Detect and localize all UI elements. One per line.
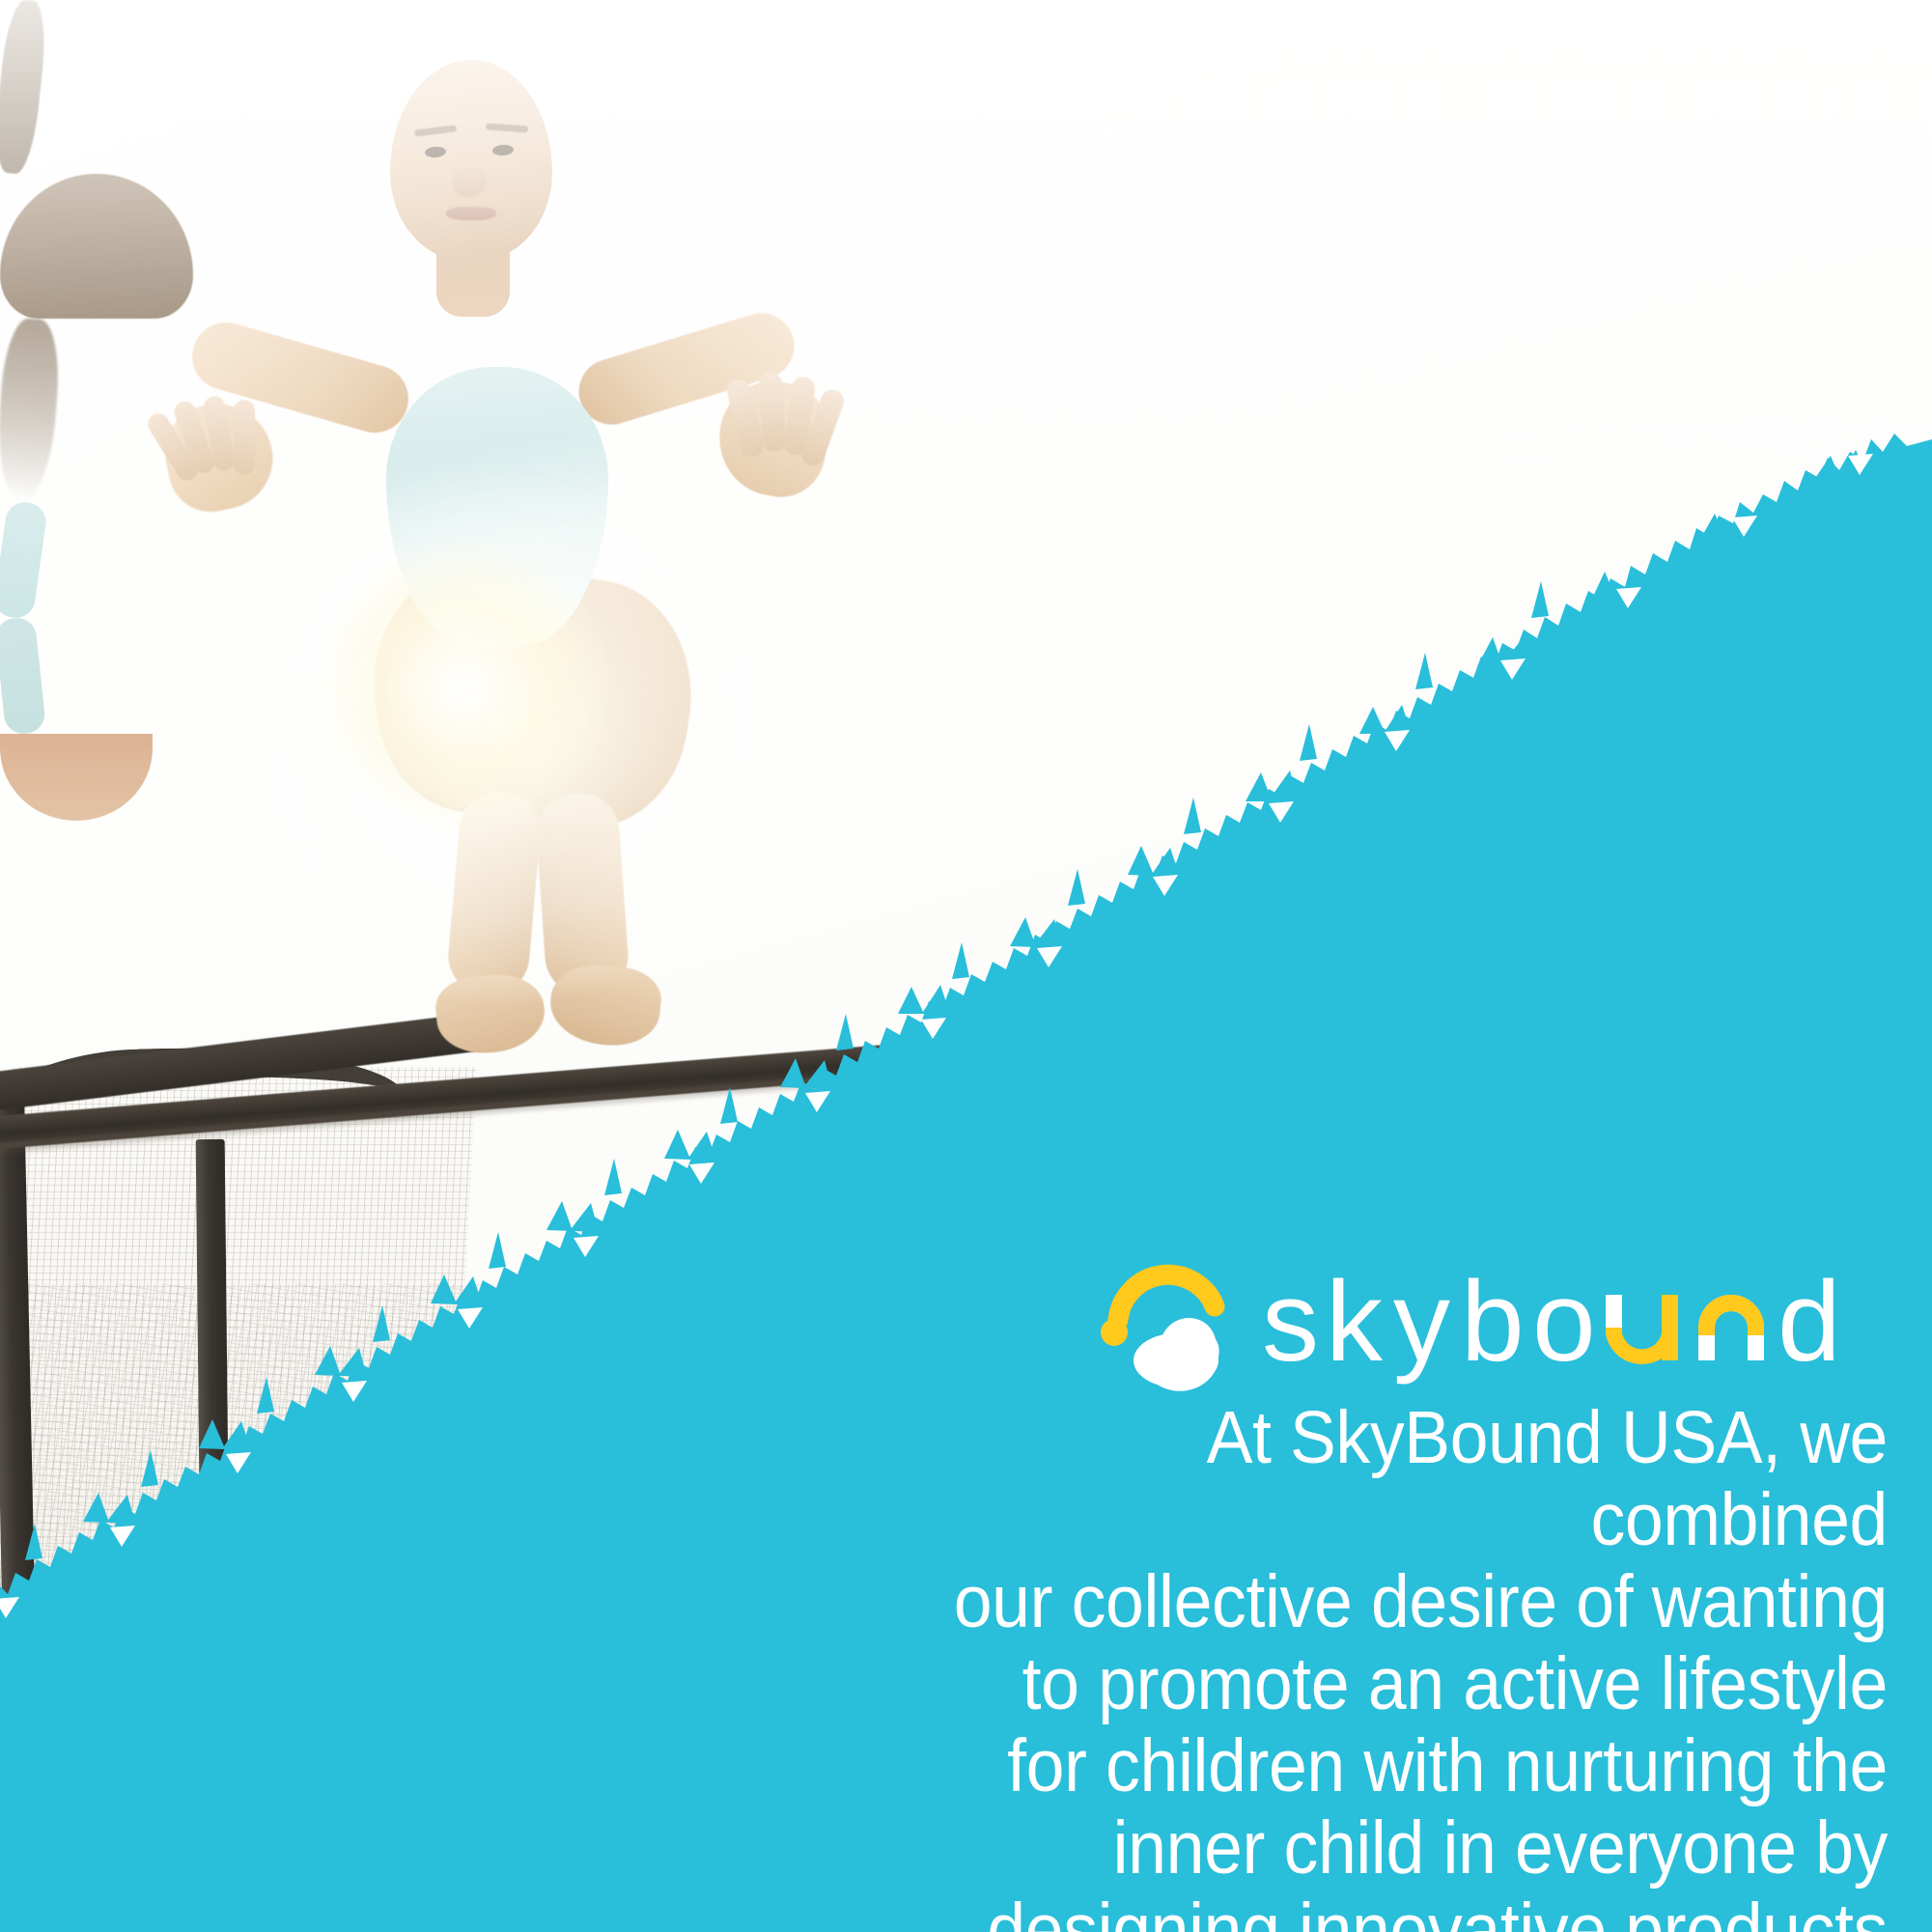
girl-mouth bbox=[446, 207, 496, 220]
svg-text:k: k bbox=[1326, 1260, 1388, 1386]
girl-hair-side bbox=[0, 0, 49, 176]
girl-finger-l4 bbox=[234, 400, 255, 475]
girl-foot-right bbox=[546, 960, 664, 1050]
svg-text:y: y bbox=[1393, 1260, 1456, 1386]
girl-nose bbox=[452, 164, 487, 197]
body-copy: At SkyBound USA, we combined our collect… bbox=[922, 1397, 1888, 1932]
leotard-strap-right bbox=[0, 616, 46, 736]
leotard-neckline bbox=[0, 734, 153, 821]
svg-text:d: d bbox=[1778, 1260, 1847, 1386]
svg-text:b: b bbox=[1461, 1260, 1530, 1386]
girl-ponytail bbox=[0, 317, 63, 504]
girl-head bbox=[390, 60, 552, 261]
sun-cloud-icon bbox=[1101, 1260, 1241, 1395]
girl-hair bbox=[0, 174, 193, 319]
skybound-wordmark: s k y b o bbox=[1262, 1260, 1902, 1395]
skybound-logo[interactable]: s k y b o bbox=[1101, 1260, 1902, 1395]
svg-text:s: s bbox=[1262, 1260, 1325, 1386]
poster-canvas: s k y b o bbox=[0, 0, 1932, 1932]
girl-foot-left bbox=[434, 970, 548, 1056]
svg-text:o: o bbox=[1532, 1260, 1602, 1386]
girl-leotard-torso bbox=[386, 367, 608, 647]
girl-shin-left bbox=[445, 789, 544, 998]
leotard-strap-left bbox=[0, 500, 48, 621]
